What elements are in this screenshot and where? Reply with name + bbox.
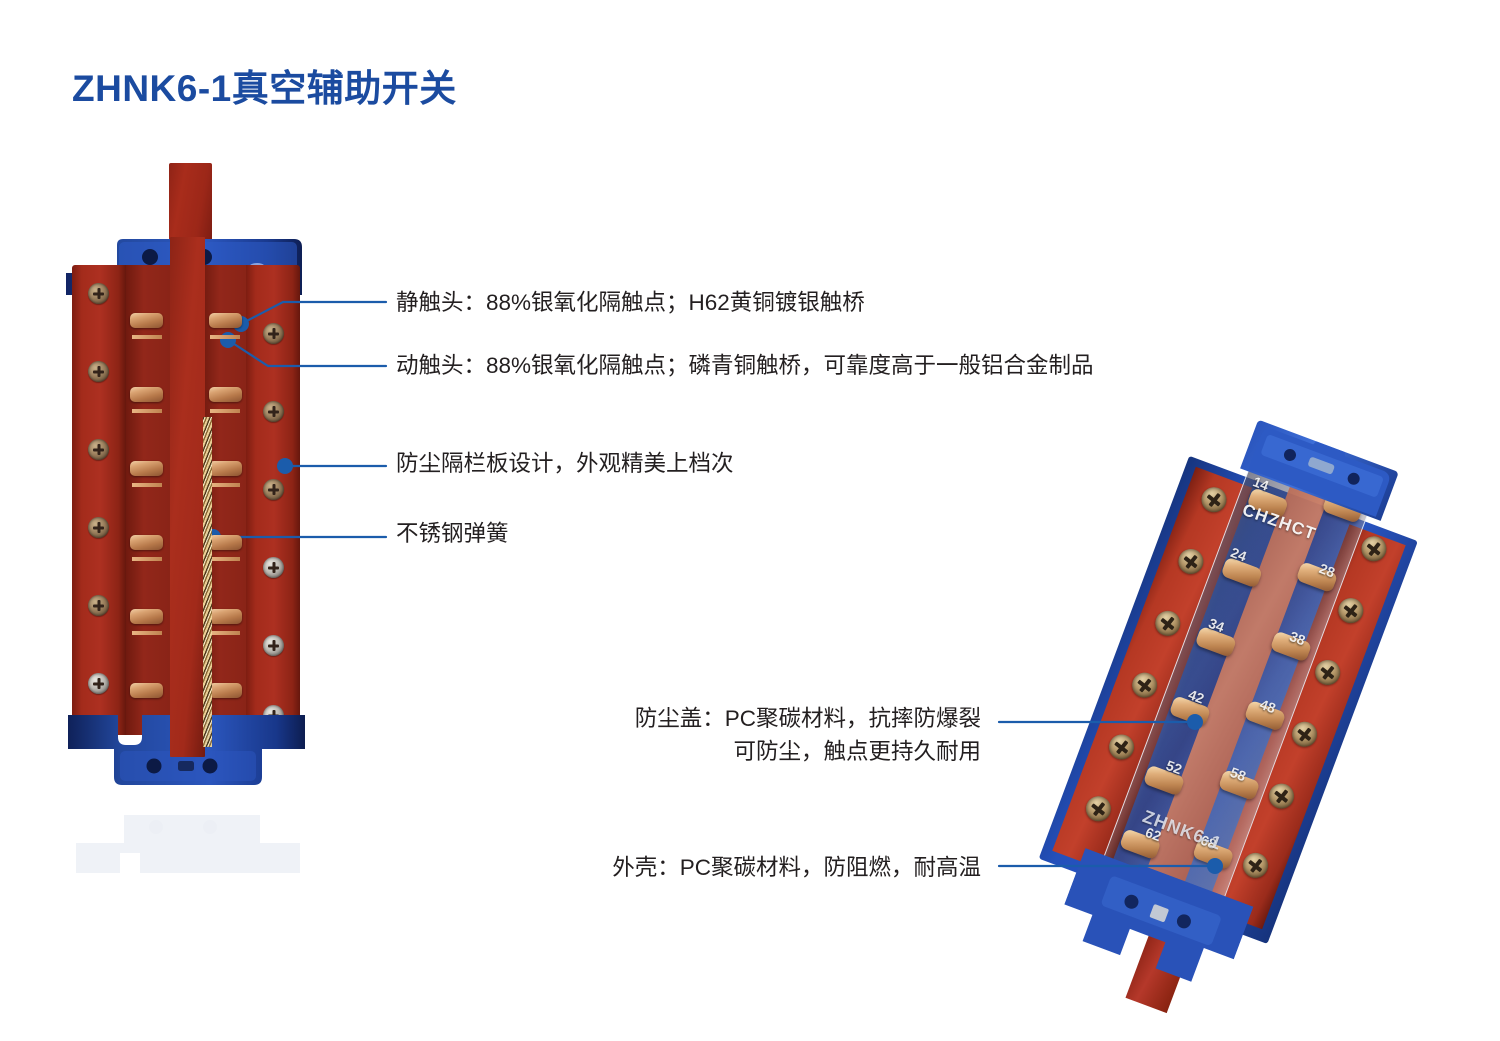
moving-contact-whisker: [210, 631, 240, 635]
terminal-screw: [88, 439, 109, 460]
callout-dust-cover: 防尘盖：PC聚碳材料，抗摔防爆裂 可防尘，触点更持久耐用: [536, 703, 981, 769]
static-contact-bridge: [209, 387, 242, 402]
callout-line: 外壳：PC聚碳材料，防阻燃，耐高温: [518, 852, 981, 885]
callout-line: 不锈钢弹簧: [396, 518, 509, 551]
callout-housing-shell: 外壳：PC聚碳材料，防阻燃，耐高温: [518, 852, 981, 885]
static-contact-bridge: [209, 683, 242, 698]
terminal-screw: [263, 323, 284, 344]
terminal-screw: [88, 673, 109, 694]
stainless-steel-spring: [203, 417, 212, 747]
callout-line: 静触头：88%银氧化隔触点；H62黄铜镀银触桥: [396, 287, 865, 320]
moving-contact-carrier: [170, 237, 205, 757]
callout-line: 动触头：88%银氧化隔触点；磷青铜触桥，可靠度高于一般铝合金制品: [396, 350, 1094, 383]
moving-contact-whisker: [210, 557, 240, 561]
terminal-screw: [263, 557, 284, 578]
terminal-rail-left: [72, 265, 126, 735]
moving-contact-whisker: [132, 409, 162, 413]
product-reflection: [74, 799, 304, 873]
terminal-screw: [88, 595, 109, 616]
moving-contact-whisker: [132, 483, 162, 487]
static-contact-bridge: [130, 387, 163, 402]
static-contact-bridge: [209, 535, 242, 550]
static-contact-bridge: [209, 313, 242, 328]
static-contact-bridge: [130, 313, 163, 328]
callout-line: 可防尘，触点更持久耐用: [536, 736, 981, 769]
static-contact-bridge: [209, 461, 242, 476]
moving-contact-whisker: [132, 557, 162, 561]
product-image-angled-view: 14 24 34 42 52 62 18 28 38 48 58 68 CHZH…: [1060, 415, 1460, 985]
callout-static-contact: 静触头：88%银氧化隔触点；H62黄铜镀银触桥: [396, 287, 865, 320]
moving-contact-whisker: [132, 631, 162, 635]
moving-contact-whisker: [210, 409, 240, 413]
terminal-screw: [88, 361, 109, 382]
static-contact-bridge: [130, 609, 163, 624]
terminal-screw: [263, 479, 284, 500]
callout-moving-contact: 动触头：88%银氧化隔触点；磷青铜触桥，可靠度高于一般铝合金制品: [396, 350, 1094, 383]
static-contact-bridge: [130, 535, 163, 550]
terminal-screw: [88, 517, 109, 538]
moving-contact-whisker: [210, 483, 240, 487]
moving-contact-whisker: [132, 335, 162, 339]
actuator-blade-top: [169, 163, 212, 241]
product-image-front-section-view: [62, 163, 310, 788]
callout-line: 防尘盖：PC聚碳材料，抗摔防爆裂: [536, 703, 981, 736]
static-contact-bridge: [130, 461, 163, 476]
page-title: ZHNK6-1真空辅助开关: [72, 58, 457, 112]
static-contact-bridge: [209, 609, 242, 624]
terminal-screw: [263, 401, 284, 422]
callout-dust-barrier-plate: 防尘隔栏板设计，外观精美上档次: [396, 448, 734, 481]
switch-body: [72, 265, 300, 735]
moving-contact-whisker: [210, 335, 240, 339]
callout-line: 防尘隔栏板设计，外观精美上档次: [396, 448, 734, 481]
static-contact-bridge: [130, 683, 163, 698]
terminal-screw: [263, 635, 284, 656]
terminal-screw: [88, 283, 109, 304]
callout-stainless-spring: 不锈钢弹簧: [396, 518, 509, 551]
product-feature-page: ZHNK6-1真空辅助开关: [0, 0, 1500, 1041]
